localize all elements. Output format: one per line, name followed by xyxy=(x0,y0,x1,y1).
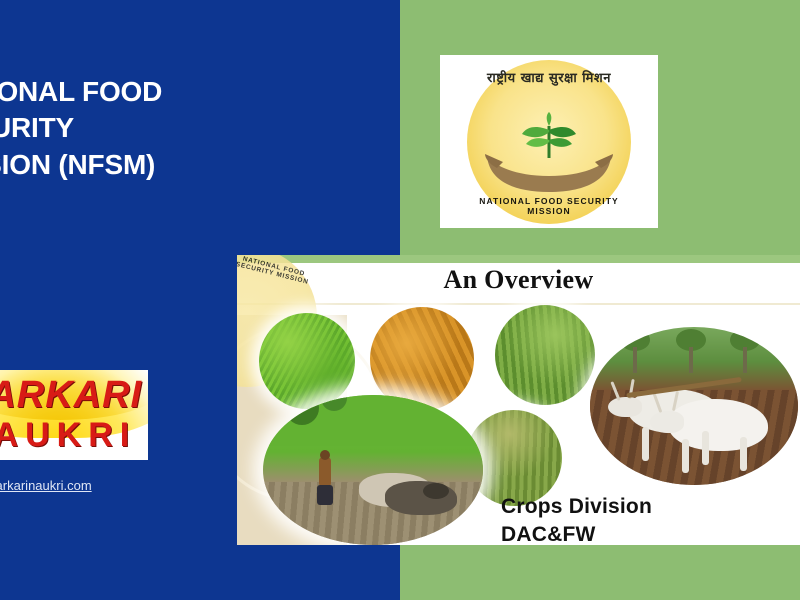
bullock-photo-leg-1 xyxy=(642,427,649,461)
nfsm-overview-slide[interactable]: An Overview NATIONAL FOOD SECURITY MISSI… xyxy=(237,255,800,545)
nfsm-emblem-icon: राष्ट्रीय खाद्य सुरक्षा मिशन NATIONAL FO… xyxy=(467,60,631,224)
slide-top-band xyxy=(237,255,800,263)
cupping-hands-icon xyxy=(483,152,615,196)
page-title-line-2: SECURITY xyxy=(0,110,264,146)
farmer-photo-body xyxy=(319,457,331,487)
slide-footer-department: DAC&FW xyxy=(501,523,731,545)
bullock-photo-trunk-2 xyxy=(689,347,693,373)
bullock-photo-leg-4 xyxy=(682,439,689,473)
emblem-english-text: NATIONAL FOOD SECURITY MISSION xyxy=(467,196,631,216)
crop-photo-pulses xyxy=(495,305,595,405)
logo-text-naukri: NAUKRI xyxy=(0,418,148,452)
bullock-photo-head-rear xyxy=(608,397,642,417)
slide-divider xyxy=(237,303,800,305)
crop-photo-farmer-ploughing xyxy=(263,395,483,545)
bullock-photo-trunk-1 xyxy=(633,347,637,373)
emblem-hindi-text: राष्ट्रीय खाद्य सुरक्षा मिशन xyxy=(467,68,631,86)
farmer-photo-legs xyxy=(317,485,333,505)
farmer-photo-ox-head xyxy=(423,483,449,499)
page-title-line-1: NATIONAL FOOD xyxy=(0,74,264,110)
logo-text-sarkari: SARKARI xyxy=(0,376,148,414)
nfsm-emblem-panel: राष्ट्रीय खाद्य सुरक्षा मिशन NATIONAL FO… xyxy=(440,55,658,228)
bullock-photo-head-front xyxy=(650,411,684,433)
bullock-photo-leg-3 xyxy=(740,437,747,471)
site-url-link[interactable]: www.sarkarinaukri.com xyxy=(0,478,92,493)
slide-footer-division: Crops Division xyxy=(501,495,731,519)
farmer-photo-head xyxy=(320,450,330,460)
page-title-line-3: MISSION (NFSM) xyxy=(0,147,264,183)
crop-photo-bullocks xyxy=(590,327,798,485)
slide-title: An Overview xyxy=(237,265,800,295)
sarkari-naukri-logo[interactable]: SARKARI NAUKRI xyxy=(0,370,148,460)
screenshot-canvas: NATIONAL FOOD SECURITY MISSION (NFSM) SA… xyxy=(0,0,800,600)
bullock-photo-leg-2 xyxy=(702,431,709,465)
bullock-photo-trunk-3 xyxy=(743,347,747,373)
page-title: NATIONAL FOOD SECURITY MISSION (NFSM) xyxy=(0,74,264,183)
